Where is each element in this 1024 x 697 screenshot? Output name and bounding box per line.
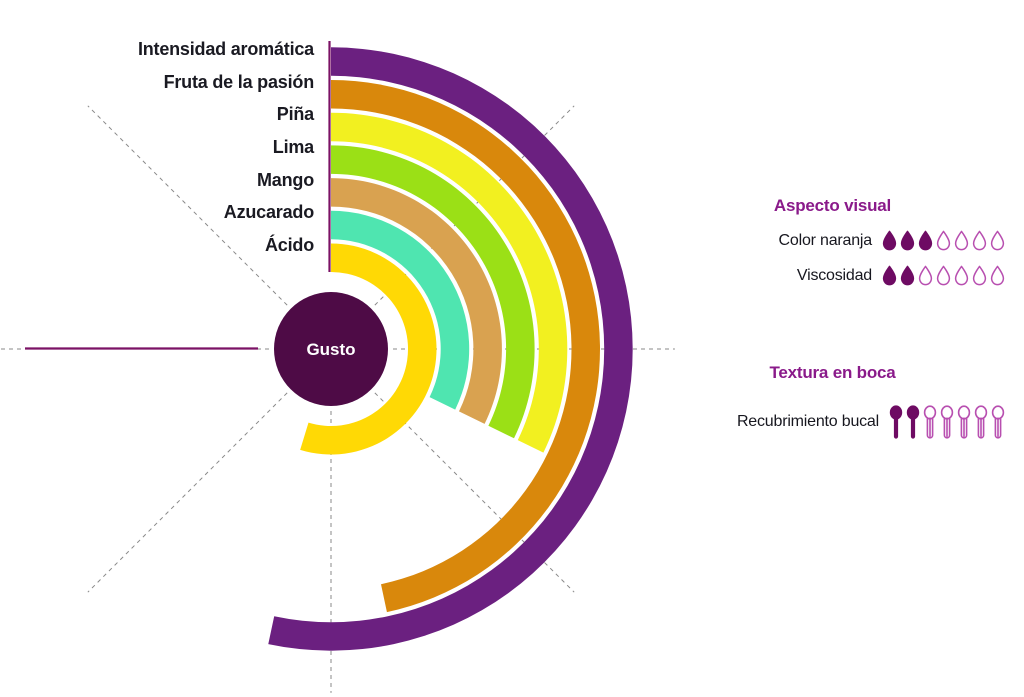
panel-aspecto-visual: Aspecto visual Color naranja Viscosidad xyxy=(660,196,1005,300)
drop-icon xyxy=(972,265,987,286)
drop-icon xyxy=(900,265,915,286)
spoon-icon xyxy=(940,405,954,439)
drop-icon xyxy=(918,265,933,286)
drop-icon xyxy=(990,230,1005,251)
spoon-icon xyxy=(906,405,920,439)
rating-row-recubrimiento-bucal: Recubrimiento bucal xyxy=(660,405,1005,439)
spoon-icon xyxy=(991,405,1005,439)
panel-title: Textura en boca xyxy=(660,363,1005,383)
center-hub-label: Gusto xyxy=(306,340,355,359)
panel-title: Aspecto visual xyxy=(660,196,1005,216)
spoon-icon xyxy=(889,405,903,439)
drop-icon xyxy=(954,230,969,251)
rating-label: Color naranja xyxy=(779,232,872,250)
rating-row-color-naranja: Color naranja xyxy=(660,230,1005,251)
spoon-icon xyxy=(923,405,937,439)
drop-icon xyxy=(882,230,897,251)
drop-icon xyxy=(954,265,969,286)
drop-icon-rating xyxy=(882,230,1005,251)
spoon-icon-rating xyxy=(889,405,1005,439)
drop-icon xyxy=(990,265,1005,286)
drop-icon xyxy=(918,230,933,251)
radial-bar-chart: Gusto xyxy=(0,0,1024,697)
drop-icon xyxy=(972,230,987,251)
rating-label: Recubrimiento bucal xyxy=(737,413,879,431)
spoon-icon xyxy=(957,405,971,439)
rating-label: Viscosidad xyxy=(797,267,872,285)
drop-icon xyxy=(900,230,915,251)
spoon-icon xyxy=(974,405,988,439)
drop-icon xyxy=(882,265,897,286)
gridline xyxy=(88,106,287,305)
panel-textura-en-boca: Textura en boca Recubrimiento bucal xyxy=(660,363,1005,453)
gridline xyxy=(88,393,287,592)
chart-canvas: Intensidad aromática Fruta de la pasión … xyxy=(0,0,1024,697)
rating-row-viscosidad: Viscosidad xyxy=(660,265,1005,286)
drop-icon xyxy=(936,265,951,286)
drop-icon xyxy=(936,230,951,251)
drop-icon-rating xyxy=(882,265,1005,286)
